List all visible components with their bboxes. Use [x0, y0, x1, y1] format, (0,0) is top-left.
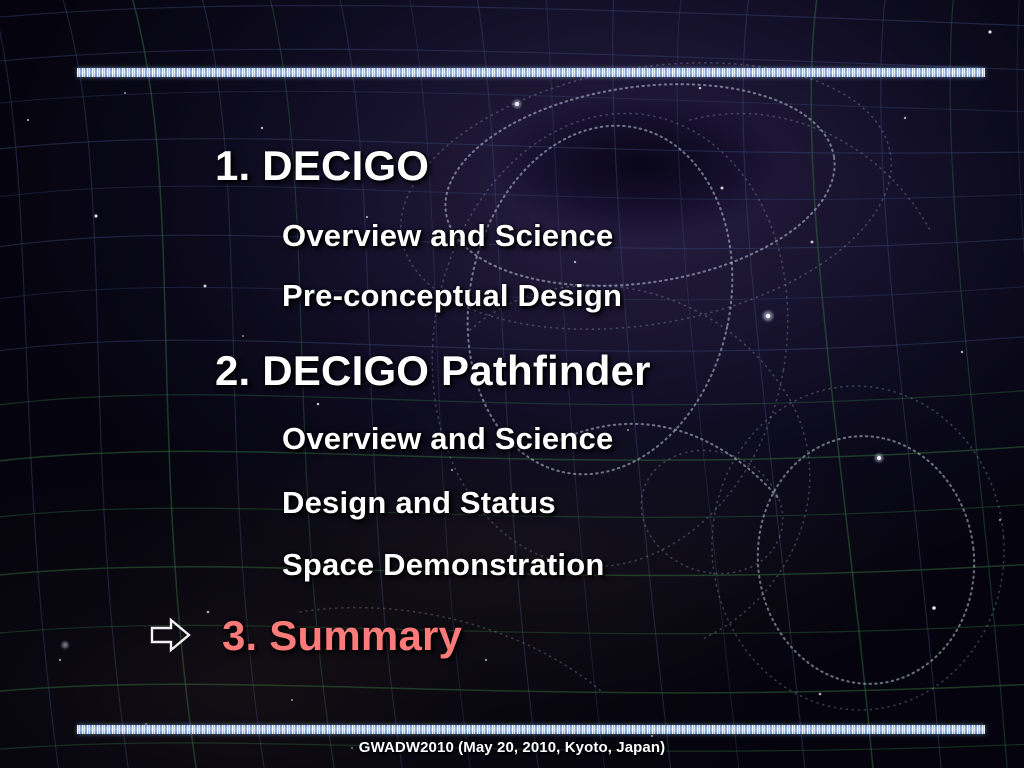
outline-item-summary: 3. Summary — [222, 612, 462, 660]
top-divider-bar — [77, 68, 985, 77]
outline-subitem-pre-conceptual-design: Pre-conceptual Design — [282, 278, 622, 314]
arrow-right-icon — [146, 611, 194, 659]
outline-subitem-design-and-status: Design and Status — [282, 485, 556, 521]
outline-item-decigo-pathfinder: 2. DECIGO Pathfinder — [215, 347, 651, 395]
outline-subitem-space-demonstration: Space Demonstration — [282, 547, 605, 583]
outline-item-decigo: 1. DECIGO — [215, 142, 429, 190]
outline-subitem-overview-and-science-2: Overview and Science — [282, 421, 613, 457]
outline-subitem-overview-and-science-1: Overview and Science — [282, 218, 613, 254]
slide-footer-conference-info: GWADW2010 (May 20, 2010, Kyoto, Japan) — [0, 739, 1024, 756]
bottom-divider-bar — [77, 725, 985, 734]
presentation-slide: 1. DECIGO Overview and Science Pre-conce… — [0, 0, 1024, 768]
